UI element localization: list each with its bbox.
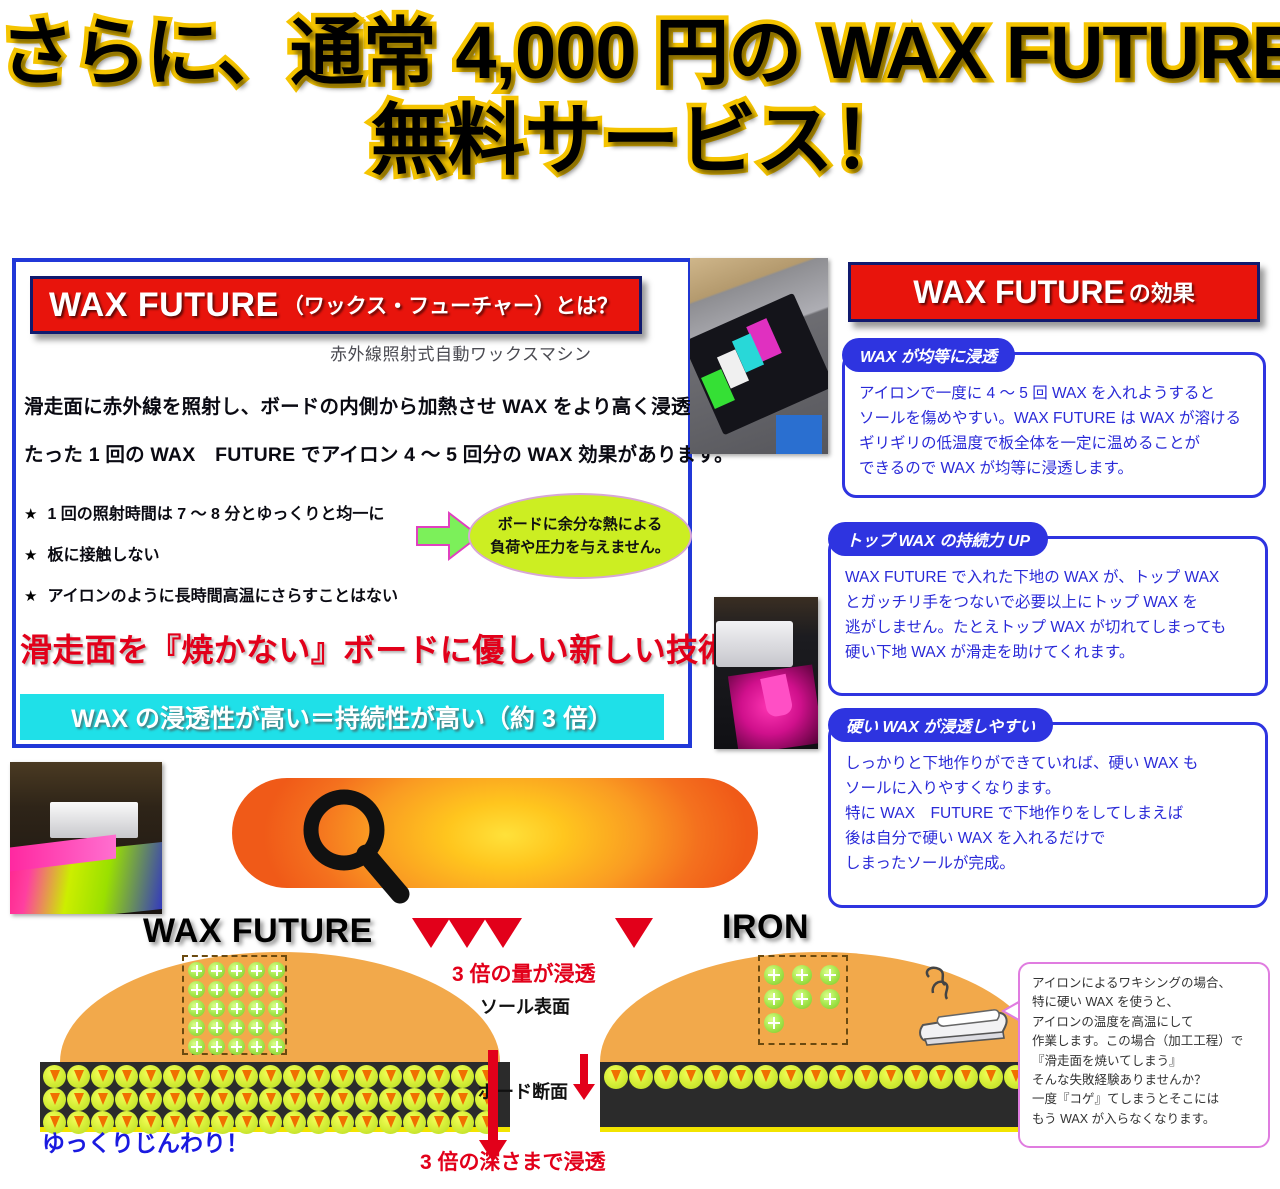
wax-dot [248,1000,265,1017]
wax-dot [283,1111,306,1134]
left-panel-title-bar: WAX FUTURE （ワックス・フューチャー）とは？ [30,276,642,334]
wax-dot [764,965,784,985]
wax-dot [248,1038,265,1055]
wax-dot [451,1065,474,1088]
wax-dot [929,1065,953,1089]
wax-dot [188,1019,205,1036]
wax-dot [268,981,285,998]
wax-dot [188,1000,205,1017]
wax-dot [754,1065,778,1089]
label-triple-amount: 3 倍の量が浸透 [452,958,596,988]
callout-line-2: 負荷や圧力を与えません。 [490,536,670,559]
callout-line: 『滑走面を焼いてしまう』 [1032,1052,1256,1071]
wax-dot [228,962,245,979]
wax-dot [188,981,205,998]
wax-dot [235,1065,258,1088]
red-triangle-icon [615,918,653,948]
wax-dot [829,1065,853,1089]
wax-dot [268,1000,285,1017]
wax-dot [248,962,265,979]
headline-line-2: 無料サービス！ [0,100,1280,182]
wax-dot [43,1088,66,1111]
label-sole-surface: ソール表面 [480,993,570,1019]
wax-dot [268,1038,285,1055]
wax-dot [268,962,285,979]
star-icon: ★ [24,506,37,523]
callout-line: そんな失敗経験ありませんか？ [1032,1071,1256,1090]
effect-tab-label: 硬い WAX が浸透しやすい [846,713,1035,737]
wax-dot [355,1088,378,1111]
effect-line: しっかりと下地作りができていれば、硬い WAX も [845,751,1251,776]
wax-dot [804,1065,828,1089]
left-panel-title-sub: （ワックス・フューチャー）とは？ [283,290,618,320]
wax-dot [115,1065,138,1088]
cyan-banner: WAX の浸透性が高い＝持続性が高い（約 3 倍） [20,694,664,740]
red-triangle-icon [484,918,522,948]
wax-dot [779,1065,803,1089]
list-item: ★アイロンのように長時間高温にさらすことはない [24,582,398,606]
effect-tab: WAX が均等に浸透 [842,338,1015,372]
wax-dot [403,1088,426,1111]
photo-machine-board-lit [10,762,162,914]
effect-body: アイロンで一度に 4 ～ 5 回 WAX を入れようすると ソールを傷めやすい。… [845,355,1263,491]
bullet-text: 1 回の照射時間は 7 ～ 8 分とゆっくりと均一に [47,506,384,523]
red-triangle-icon [448,918,486,948]
wax-dot [654,1065,678,1089]
wax-dot [188,962,205,979]
wax-dot [954,1065,978,1089]
wax-dot [427,1111,450,1134]
cyan-banner-text: WAX の浸透性が高い＝持続性が高い（約 3 倍） [71,699,613,735]
effect-line: ソールに入りやすくなります。 [845,776,1251,801]
wax-dot [228,1019,245,1036]
wax-dot [979,1065,1003,1089]
clothes-iron-icon [905,965,1015,1060]
wax-dot [188,1038,205,1055]
wax-dot [283,1065,306,1088]
wax-dot [704,1065,728,1089]
wax-dot [187,1088,210,1111]
wax-dot [879,1065,903,1089]
machine-caption: 赤外線照射式自動ワックスマシン [330,340,591,365]
effect-line: WAX FUTURE で入れた下地の WAX が、トップ WAX [845,565,1251,590]
callout-line: 特に硬い WAX を使うと、 [1032,993,1256,1012]
red-headline-text: 滑走面を『焼かない』ボードに優しい新しい技術。 [20,625,763,671]
wax-dot [259,1111,282,1134]
wax-dot [91,1065,114,1088]
effect-tab: 硬い WAX が浸透しやすい [828,708,1053,742]
diagram-label-wax-future: WAX FUTURE [143,912,373,951]
effect-line: できるので WAX が均等に浸透します。 [859,456,1249,481]
wax-dot [764,989,784,1009]
wax-dot [259,1065,282,1088]
bullet-text: アイロンのように長時間高温にさらすことはない [47,588,398,605]
callout-line: アイロンの温度を高温にして [1032,1013,1256,1032]
iron-warning-callout: アイロンによるワキシングの場合、 特に硬い WAX を使うと、 アイロンの温度を… [1018,962,1270,1148]
callout-line: 一度『コゲ』てしまうとそこには [1032,1090,1256,1109]
wax-dot-grid-surface-wax-future [188,962,286,1055]
wax-dot-grid-band-iron [604,1065,1029,1089]
list-item: ★1 回の照射時間は 7 ～ 8 分とゆっくりと均一に [24,500,398,524]
wax-dot [355,1065,378,1088]
wax-dot [208,1000,225,1017]
wax-dot [139,1065,162,1088]
wax-dot [792,989,812,1009]
bullet-text: 板に接触しない [47,547,159,564]
wax-dot [163,1088,186,1111]
left-body-line-2: たった 1 回の WAX FUTURE でアイロン 4 ～ 5 回分の WAX … [24,438,734,467]
wax-dot [228,1000,245,1017]
wax-dot [379,1065,402,1088]
wax-dot-grid-surface-iron [764,965,844,1033]
wax-dot [235,1088,258,1111]
wax-dot [403,1111,426,1134]
wax-dot [43,1065,66,1088]
star-icon: ★ [24,547,37,564]
wax-dot [208,1019,225,1036]
wax-dot [904,1065,928,1089]
wax-dot [451,1111,474,1134]
label-triple-depth: 3 倍の深さまで浸透 [420,1146,606,1176]
wax-dot [629,1065,653,1089]
wax-dot [854,1065,878,1089]
wax-dot [211,1088,234,1111]
wax-dot [427,1088,450,1111]
wax-dot [208,1038,225,1055]
callout-line: もう WAX が入らなくなります。 [1032,1110,1256,1129]
wax-dot [792,965,812,985]
wax-dot [139,1088,162,1111]
callout-line: アイロンによるワキシングの場合、 [1032,974,1256,993]
wax-dot [355,1111,378,1134]
list-item: ★板に接触しない [24,541,398,565]
wax-dot [67,1088,90,1111]
wax-dot [307,1111,330,1134]
effect-line: 特に WAX FUTURE で下地作りをしてしまえば [845,801,1251,826]
wax-dot [115,1088,138,1111]
wax-dot [283,1088,306,1111]
diagram-label-iron: IRON [722,908,809,947]
wax-dot [187,1065,210,1088]
effect-line: ギリギリの低温度で板全体を一定に温めることが [859,431,1249,456]
wax-dot [211,1065,234,1088]
effect-body: しっかりと下地作りができていれば、硬い WAX も ソールに入りやすくなります。… [831,725,1265,887]
effect-line: とガッチリ手をつないで必要以上にトップ WAX を [845,590,1251,615]
wax-dot [248,1019,265,1036]
wax-dot [451,1088,474,1111]
wax-dot [379,1111,402,1134]
wax-dot [427,1065,450,1088]
magnifier-icon [296,786,416,904]
wax-dot [208,962,225,979]
wax-dot [679,1065,703,1089]
wax-dot [208,981,225,998]
effect-box-hard-wax-penetration: 硬い WAX が浸透しやすい しっかりと下地作りができていれば、硬い WAX も… [828,722,1268,908]
wax-dot [268,1019,285,1036]
effect-line: 逃がしません。たとえトップ WAX が切れてしまっても [845,615,1251,640]
wax-dot [403,1065,426,1088]
headline-line-1: さらに、通常 4,000 円の WAX FUTURE が、 [0,14,1280,92]
photo-machine-infrared-glow [714,597,818,749]
wax-dot [307,1065,330,1088]
wax-dot [307,1088,330,1111]
wax-dot [163,1065,186,1088]
photo-snowboards-on-machine [690,258,828,454]
label-slow-gentle: ゆっくりじんわり！ [42,1124,249,1158]
callout-line: 作業します。この場合（加工工程）で [1032,1032,1256,1051]
wax-dot [91,1088,114,1111]
wax-dot [820,989,840,1009]
heat-load-callout: ボードに余分な熱による 負荷や圧力を与えません。 [468,493,692,579]
red-triangle-icon [412,918,450,948]
effect-line: アイロンで一度に 4 ～ 5 回 WAX を入れようすると [859,381,1249,406]
depth-arrow-long-icon [488,1050,498,1142]
effect-tab: トップ WAX の持続力 UP [828,522,1048,556]
left-panel-title-main: WAX FUTURE [49,286,279,325]
callout-line-1: ボードに余分な熱による [498,513,663,536]
wax-dot [331,1065,354,1088]
wax-dot [820,965,840,985]
right-panel-title-sub: の効果 [1129,276,1195,308]
headline: さらに、通常 4,000 円の WAX FUTURE が、 無料サービス！ [0,14,1280,182]
effect-box-even-penetration: WAX が均等に浸透 アイロンで一度に 4 ～ 5 回 WAX を入れようすると… [842,352,1266,498]
wax-dot [604,1065,628,1089]
effect-body: WAX FUTURE で入れた下地の WAX が、トップ WAX とガッチリ手を… [831,539,1265,675]
effect-tab-label: WAX が均等に浸透 [860,343,997,367]
wax-dot [228,981,245,998]
wax-dot [729,1065,753,1089]
wax-dot [764,1013,784,1033]
right-panel-title-main: WAX FUTURE [913,274,1125,311]
wax-dot [67,1065,90,1088]
effect-line: 硬い下地 WAX が滑走を助けてくれます。 [845,640,1251,665]
wax-dot [379,1088,402,1111]
infographic-page: さらに、通常 4,000 円の WAX FUTURE が、 無料サービス！ WA… [0,0,1280,1189]
wax-dot [259,1088,282,1111]
effect-line: ソールを傷めやすい。WAX FUTURE は WAX が溶ける [859,406,1249,431]
wax-dot [331,1088,354,1111]
depth-arrow-short-icon [580,1054,588,1086]
star-icon: ★ [24,588,37,605]
wax-dot [228,1038,245,1055]
effect-line: 後は自分で硬い WAX を入れるだけで [845,826,1251,851]
wax-dot [248,981,265,998]
effect-box-top-wax-durability: トップ WAX の持続力 UP WAX FUTURE で入れた下地の WAX が… [828,536,1268,696]
effect-line: しまったソールが完成。 [845,851,1251,876]
wax-dot [331,1111,354,1134]
right-panel-title-bar: WAX FUTURE の効果 [848,262,1260,322]
feature-bullet-list: ★1 回の照射時間は 7 ～ 8 分とゆっくりと均一に ★板に接触しない ★アイ… [24,500,398,623]
effect-tab-label: トップ WAX の持続力 UP [846,527,1030,551]
